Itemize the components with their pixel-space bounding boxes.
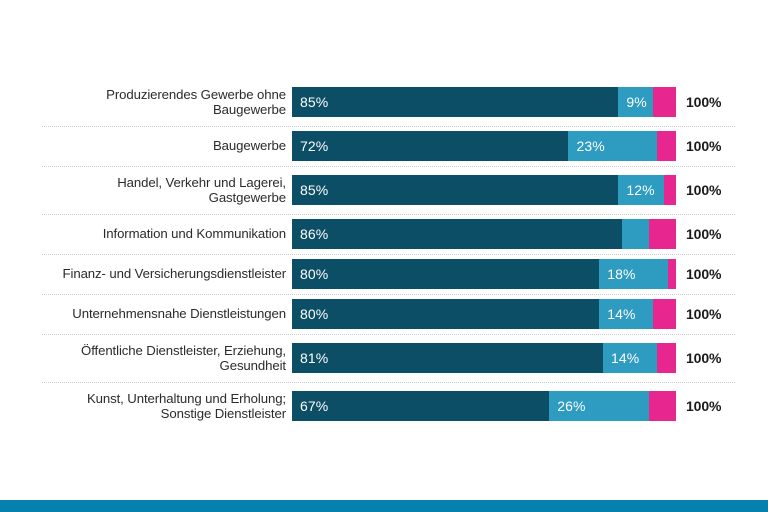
- row-category-label-line: Finanz- und Versicherungsdienstleister: [63, 266, 286, 281]
- bar-segment-3: 6%: [653, 87, 676, 117]
- row-category-label: Handel, Verkehr und Lagerei,Gastgewerbe: [0, 175, 292, 206]
- row-separator: [42, 166, 735, 168]
- stacked-bar: 86%7%7%: [292, 219, 676, 249]
- row-total-label: 100%: [676, 306, 721, 322]
- bar-segment-3: 5%: [657, 343, 676, 373]
- row-category-label: Finanz- und Versicherungsdienstleister: [0, 266, 292, 282]
- row-category-label-line: Information und Kommunikation: [103, 226, 286, 241]
- bar-segment-value-label: 86%: [292, 226, 328, 242]
- chart-rows-area: Produzierendes Gewerbe ohneBaugewerbe85%…: [0, 78, 768, 430]
- chart-row: Öffentliche Dienstleister, Erziehung,Ges…: [0, 334, 768, 382]
- bar-segment-value-label: 12%: [618, 182, 654, 198]
- row-separator: [42, 294, 735, 296]
- row-separator: [42, 214, 735, 216]
- bar-segment-value-label: 81%: [292, 350, 328, 366]
- bar-segment-2: 9%: [618, 87, 653, 117]
- row-category-label-line: Öffentliche Dienstleister, Erziehung,: [81, 343, 286, 358]
- row-category-label-line: Handel, Verkehr und Lagerei,: [117, 175, 286, 190]
- row-category-label: Öffentliche Dienstleister, Erziehung,Ges…: [0, 343, 292, 374]
- stacked-bar: 80%18%2%: [292, 259, 676, 289]
- row-category-label-line: Kunst, Unterhaltung und Erholung;: [87, 391, 286, 406]
- bar-segment-3: 2%: [668, 259, 676, 289]
- stacked-bar: 67%26%7%: [292, 391, 676, 421]
- chart-row: Information und Kommunikation86%7%7%100%: [0, 214, 768, 254]
- chart-row: Baugewerbe72%23%5%100%: [0, 126, 768, 166]
- row-total-label: 100%: [676, 138, 721, 154]
- bar-segment-1: 81%: [292, 343, 603, 373]
- bar-segment-value-label: 26%: [549, 398, 585, 414]
- row-category-label-line: Produzierendes Gewerbe ohne: [106, 87, 286, 102]
- bar-segment-1: 86%: [292, 219, 622, 249]
- row-category-label-line: Gesundheit: [220, 358, 286, 373]
- row-category-label-line: Gastgewerbe: [209, 190, 286, 205]
- stacked-bar-chart: Produzierendes Gewerbe ohneBaugewerbe85%…: [0, 0, 768, 512]
- bar-segment-2: 14%: [603, 343, 657, 373]
- row-category-label-line: Baugewerbe: [213, 138, 286, 153]
- stacked-bar: 81%14%5%: [292, 343, 676, 373]
- bar-segment-2: 23%: [568, 131, 656, 161]
- bar-segment-1: 67%: [292, 391, 549, 421]
- row-separator: [42, 382, 735, 384]
- row-category-label-line: Unternehmensnahe Dienstleistungen: [72, 306, 286, 321]
- row-separator: [42, 334, 735, 336]
- bar-segment-3: 7%: [649, 219, 676, 249]
- row-total-label: 100%: [676, 226, 721, 242]
- row-total-label: 100%: [676, 350, 721, 366]
- row-category-label: Information und Kommunikation: [0, 226, 292, 242]
- bar-segment-3: 7%: [649, 391, 676, 421]
- bar-segment-1: 85%: [292, 175, 618, 205]
- bar-segment-2: 7%: [622, 219, 649, 249]
- bar-segment-3: 5%: [657, 131, 676, 161]
- row-category-label: Kunst, Unterhaltung und Erholung;Sonstig…: [0, 391, 292, 422]
- chart-row: Unternehmensnahe Dienstleistungen80%14%6…: [0, 294, 768, 334]
- stacked-bar: 80%14%6%: [292, 299, 676, 329]
- row-total-label: 100%: [676, 94, 721, 110]
- row-category-label-line: Baugewerbe: [213, 102, 286, 117]
- bar-segment-2: 18%: [599, 259, 668, 289]
- bar-segment-2: 26%: [549, 391, 649, 421]
- bar-segment-1: 80%: [292, 259, 599, 289]
- bar-segment-value-label: 80%: [292, 306, 328, 322]
- bar-segment-1: 72%: [292, 131, 568, 161]
- row-separator: [42, 126, 735, 128]
- row-category-label-line: Sonstige Dienstleister: [161, 406, 286, 421]
- bar-segment-value-label: 85%: [292, 182, 328, 198]
- footer-accent-bar: [0, 500, 768, 512]
- bar-segment-1: 80%: [292, 299, 599, 329]
- bar-segment-3: 6%: [653, 299, 676, 329]
- row-category-label: Unternehmensnahe Dienstleistungen: [0, 306, 292, 322]
- bar-segment-value-label: 85%: [292, 94, 328, 110]
- bar-segment-value-label: 14%: [603, 350, 639, 366]
- bar-segment-value-label: 14%: [599, 306, 635, 322]
- bar-segment-value-label: 72%: [292, 138, 328, 154]
- stacked-bar: 85%9%6%: [292, 87, 676, 117]
- bar-segment-value-label: 67%: [292, 398, 328, 414]
- bar-segment-2: 12%: [618, 175, 664, 205]
- row-total-label: 100%: [676, 398, 721, 414]
- row-category-label: Baugewerbe: [0, 138, 292, 154]
- chart-row: Produzierendes Gewerbe ohneBaugewerbe85%…: [0, 78, 768, 126]
- row-total-label: 100%: [676, 182, 721, 198]
- chart-row: Finanz- und Versicherungsdienstleister80…: [0, 254, 768, 294]
- bar-segment-value-label: 23%: [568, 138, 604, 154]
- bar-segment-value-label: 18%: [599, 266, 635, 282]
- stacked-bar: 72%23%5%: [292, 131, 676, 161]
- row-total-label: 100%: [676, 266, 721, 282]
- bar-segment-2: 14%: [599, 299, 653, 329]
- bar-segment-value-label: 80%: [292, 266, 328, 282]
- bar-segment-1: 85%: [292, 87, 618, 117]
- row-separator: [42, 254, 735, 256]
- chart-row: Handel, Verkehr und Lagerei,Gastgewerbe8…: [0, 166, 768, 214]
- stacked-bar: 85%12%3%: [292, 175, 676, 205]
- bar-segment-3: 3%: [664, 175, 676, 205]
- bar-segment-value-label: 9%: [618, 94, 646, 110]
- chart-row: Kunst, Unterhaltung und Erholung;Sonstig…: [0, 382, 768, 430]
- row-category-label: Produzierendes Gewerbe ohneBaugewerbe: [0, 87, 292, 118]
